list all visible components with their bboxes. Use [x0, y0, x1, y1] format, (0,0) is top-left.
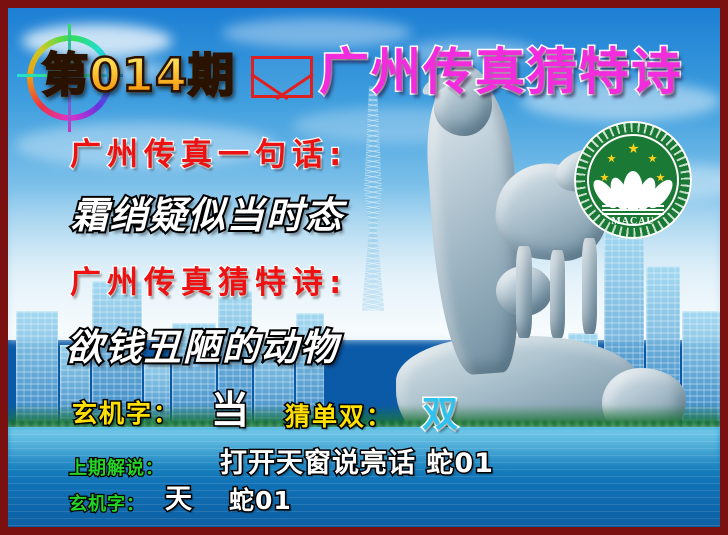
macau-sar-emblem: MACAU	[574, 121, 692, 239]
fax-quote-label: 广州传真一句话:	[70, 129, 347, 174]
previous-mystic-word-value: 天	[165, 477, 193, 516]
emblem-latin-text: MACAU	[574, 216, 692, 227]
previous-explain-label: 上期解说：	[69, 454, 164, 480]
content-layer: 第014期 广州传真猜特诗 MACAU 广州传真一句话: 霜绡疑似当时态 广州传…	[8, 8, 720, 527]
previous-result-value: 蛇01	[229, 481, 292, 517]
odd-even-label: 猜单双：	[285, 397, 393, 433]
page-title: 广州传真猜特诗	[319, 32, 683, 104]
fax-quote-value: 霜绡疑似当时态	[71, 185, 344, 239]
mystic-word-value: 当	[211, 379, 249, 434]
riddle-value: 欲钱丑陋的动物	[66, 317, 339, 371]
envelope-icon	[251, 56, 313, 98]
previous-explain-value: 打开天窗说亮话 蛇01	[220, 441, 494, 480]
mystic-word-label: 玄机字：	[72, 394, 180, 430]
issue-number: 第014期	[42, 39, 235, 105]
lottery-poster: 第014期 广州传真猜特诗 MACAU 广州传真一句话: 霜绡疑似当时态 广州传…	[0, 0, 728, 535]
odd-even-value: 双	[422, 385, 458, 437]
previous-mystic-word-label: 玄机字：	[69, 490, 145, 516]
riddle-label: 广州传真猜特诗:	[70, 257, 347, 302]
